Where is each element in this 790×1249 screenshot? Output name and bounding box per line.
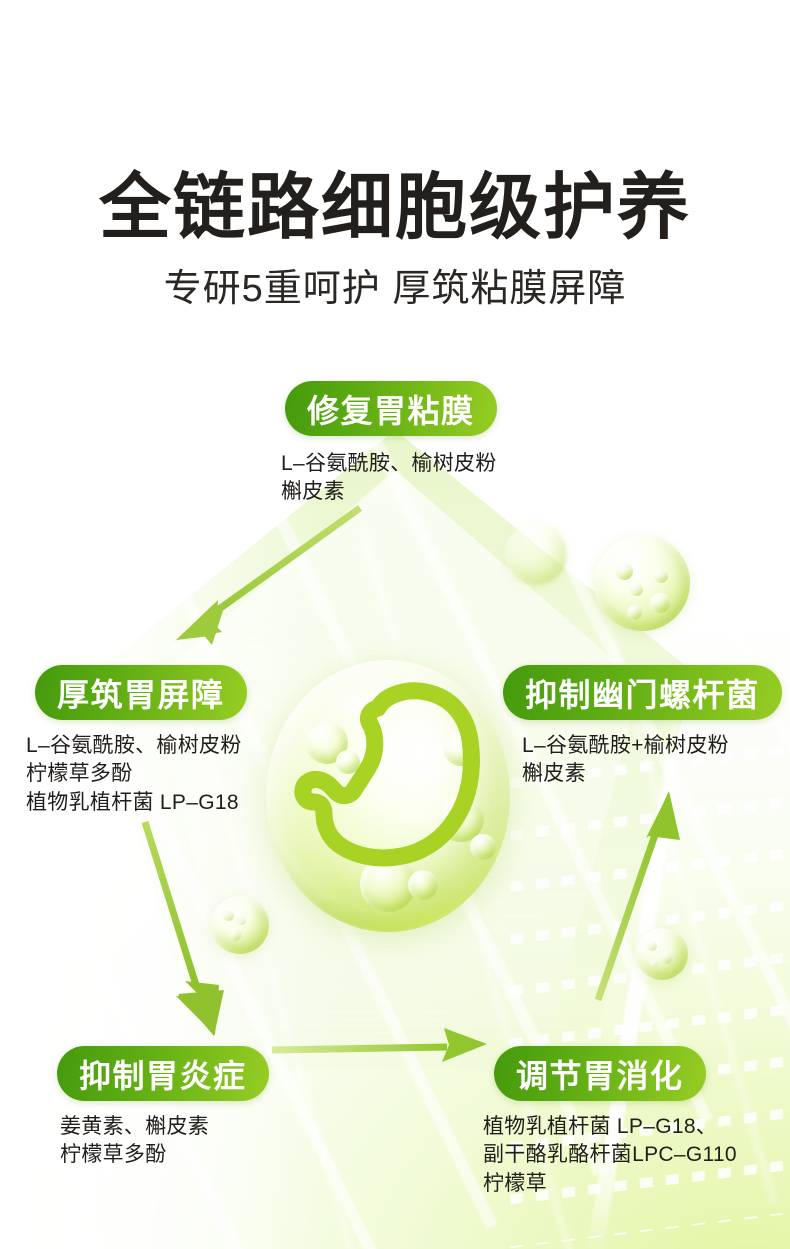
bubble-inner: [616, 563, 633, 580]
node-details-inflammation: 姜黄素、槲皮素 柠檬草多酚: [60, 1113, 209, 1170]
page-title: 全链路细胞级护养: [0, 172, 790, 244]
node-details-digestion: 植物乳植杆菌 LP–G18、 副干酪乳酪杆菌LPC–G110 柠檬草: [483, 1113, 737, 1198]
node-label-digestion[interactable]: 调节胃消化: [494, 1046, 706, 1101]
bubble-inner: [654, 569, 668, 583]
page-subtitle: 专研5重呵护 厚筑粘膜屏障: [0, 270, 790, 308]
node-details-barrier: L–谷氨酰胺、榆树皮粉 柠檬草多酚 植物乳植杆菌 LP–G18: [26, 732, 242, 817]
bubble-inner: [237, 916, 246, 925]
node-label-repair[interactable]: 修复胃粘膜: [285, 381, 497, 436]
decorative-bubble: [505, 523, 567, 585]
stomach-outline-icon: [258, 648, 516, 948]
decorative-bubble: [636, 928, 688, 980]
bubble-inner: [627, 605, 642, 620]
central-sphere: [258, 648, 516, 948]
bubble-inner: [650, 959, 658, 967]
bubble-inner: [660, 952, 672, 964]
bubble-inner: [630, 583, 643, 596]
node-label-barrier[interactable]: 厚筑胃屏障: [35, 665, 247, 720]
node-label-inflammation[interactable]: 抑制胃炎症: [57, 1046, 269, 1101]
poster-root: 全链路细胞级护养 专研5重呵护 厚筑粘膜屏障: [0, 0, 790, 1249]
bubble-inner: [223, 910, 234, 921]
bubble-inner: [647, 941, 657, 951]
decorative-bubble: [594, 535, 690, 631]
bubble-inner: [650, 593, 670, 613]
bubble-inner: [229, 929, 241, 941]
node-details-hp: L–谷氨酰胺+榆树皮粉 槲皮素: [522, 732, 729, 789]
node-details-repair: L–谷氨酰胺、榆树皮粉 槲皮素: [281, 450, 497, 507]
node-label-hp[interactable]: 抑制幽门螺杆菌: [503, 665, 782, 720]
